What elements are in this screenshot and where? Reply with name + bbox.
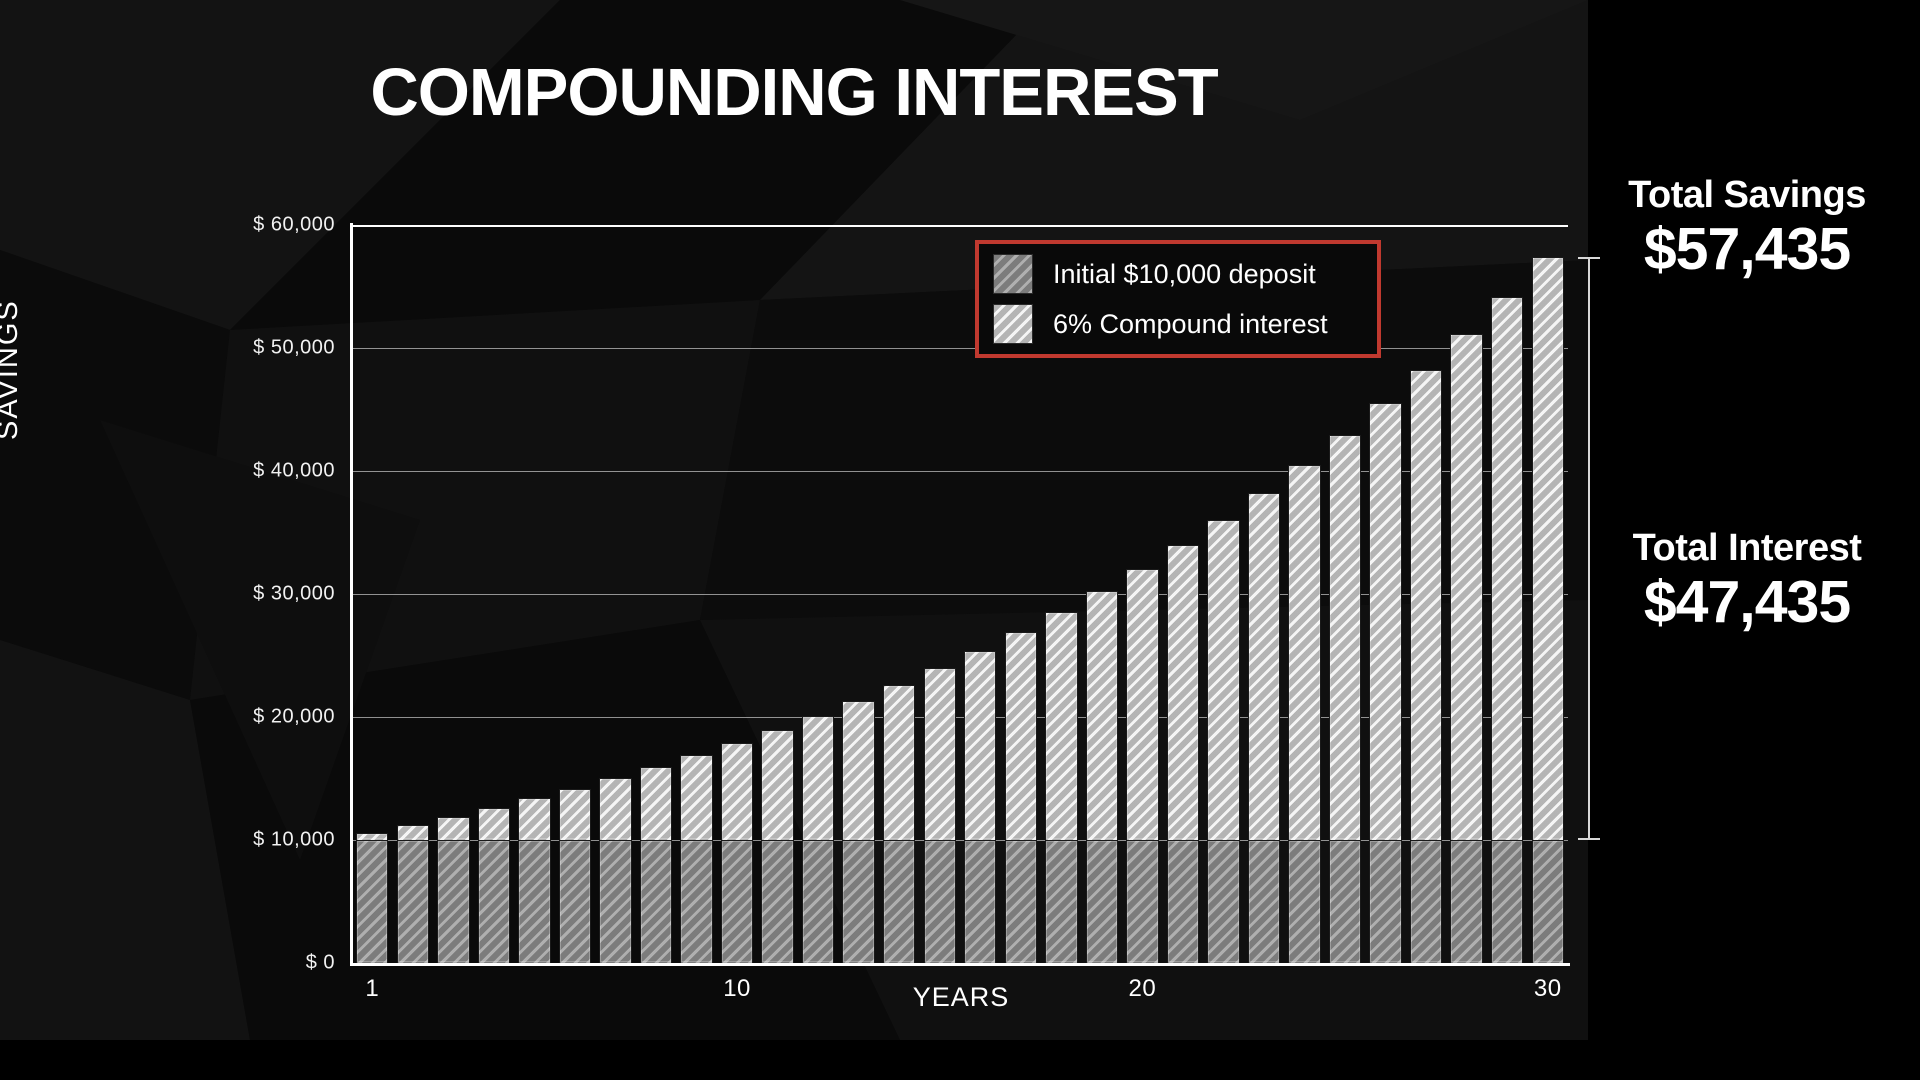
bar-segment-deposit [1167, 840, 1199, 963]
bar-group[interactable] [680, 755, 712, 963]
bar-group[interactable] [356, 833, 388, 963]
bracket-cap-bottom [1578, 838, 1600, 840]
bar-segment-deposit [761, 840, 793, 963]
bar-segment-interest [680, 755, 712, 840]
bar-group[interactable] [1369, 403, 1401, 963]
interest-swatch-icon [993, 304, 1033, 344]
bar-group[interactable] [1450, 334, 1482, 963]
bar-segment-deposit [1369, 840, 1401, 963]
bar-segment-deposit [924, 840, 956, 963]
bar-segment-interest [1086, 591, 1118, 840]
bar-segment-interest [1126, 569, 1158, 840]
bar-group[interactable] [1410, 370, 1442, 963]
bar-segment-interest [1167, 545, 1199, 840]
stat-total-savings-value: $57,435 [1592, 217, 1902, 282]
bar-segment-deposit [397, 840, 429, 963]
bar-group[interactable] [1045, 612, 1077, 963]
bar-segment-deposit [356, 840, 388, 963]
legend-label-interest: 6% Compound interest [1053, 309, 1328, 340]
bar-segment-deposit [1532, 840, 1564, 963]
bar-group[interactable] [1167, 545, 1199, 963]
chart-plot-area [352, 225, 1568, 963]
bar-group[interactable] [883, 685, 915, 963]
bar-segment-interest [397, 825, 429, 840]
bar-segment-deposit [1248, 840, 1280, 963]
bar-group[interactable] [761, 730, 793, 963]
bar-segment-interest [1207, 520, 1239, 840]
bar-segment-interest [518, 798, 550, 840]
bar-segment-interest [1369, 403, 1401, 840]
y-axis-tick-labels: $ 0$ 10,000$ 20,000$ 30,000$ 40,000$ 50,… [155, 225, 335, 963]
bar-segment-interest [802, 716, 834, 840]
bar-segment-interest [1005, 632, 1037, 840]
bar-segment-deposit [1288, 840, 1320, 963]
y-axis-tick-label: $ 50,000 [165, 337, 335, 360]
bar-group[interactable] [478, 808, 510, 963]
bar-segment-deposit [842, 840, 874, 963]
bar-group[interactable] [1532, 257, 1564, 963]
bar-segment-interest [640, 767, 672, 840]
bar-segment-deposit [883, 840, 915, 963]
bar-segment-interest [883, 685, 915, 840]
bar-segment-deposit [599, 840, 631, 963]
bar-group[interactable] [1005, 632, 1037, 963]
deposit-swatch-icon [993, 254, 1033, 294]
bar-group[interactable] [640, 767, 672, 963]
y-axis-tick-label: $ 30,000 [165, 583, 335, 606]
bar-segment-interest [842, 701, 874, 840]
bar-group[interactable] [1207, 520, 1239, 963]
bar-group[interactable] [437, 817, 469, 963]
bar-segment-interest [721, 743, 753, 840]
bar-group[interactable] [1288, 465, 1320, 963]
bar-segment-deposit [559, 840, 591, 963]
bar-segment-interest [1410, 370, 1442, 840]
bar-segment-deposit [1045, 840, 1077, 963]
stat-total-interest-label: Total Interest [1592, 528, 1902, 570]
bar-segment-deposit [1126, 840, 1158, 963]
bar-segment-deposit [1005, 840, 1037, 963]
background-bottom-strip [0, 1040, 1588, 1080]
page-title: COMPOUNDING INTEREST [0, 58, 1588, 128]
legend-label-deposit: Initial $10,000 deposit [1053, 259, 1316, 290]
bar-segment-deposit [1491, 840, 1523, 963]
stat-total-savings: Total Savings $57,435 [1592, 175, 1902, 282]
bar-group[interactable] [1329, 435, 1361, 963]
bar-group[interactable] [1086, 591, 1118, 963]
bar-group[interactable] [599, 778, 631, 963]
bar-segment-deposit [1207, 840, 1239, 963]
x-axis-title: YEARS [352, 982, 1570, 1013]
bar-segment-deposit [1329, 840, 1361, 963]
bar-segment-deposit [1450, 840, 1482, 963]
legend-item-interest[interactable]: 6% Compound interest [993, 304, 1363, 344]
bar-segment-deposit [964, 840, 996, 963]
bar-segment-interest [437, 817, 469, 840]
bar-segment-deposit [1086, 840, 1118, 963]
bar-group[interactable] [397, 825, 429, 963]
bar-segment-deposit [478, 840, 510, 963]
x-axis-line [352, 963, 1570, 966]
bar-segment-interest [964, 651, 996, 840]
bar-segment-interest [478, 808, 510, 840]
bar-group[interactable] [1248, 493, 1280, 963]
y-axis-tick-label: $ 40,000 [165, 460, 335, 483]
bar-segment-deposit [518, 840, 550, 963]
bar-segment-interest [1045, 612, 1077, 840]
bar-group[interactable] [518, 798, 550, 963]
bar-segment-interest [559, 789, 591, 840]
bar-segment-deposit [802, 840, 834, 963]
bar-group[interactable] [1491, 297, 1523, 963]
y-axis-tick-label: $ 0 [165, 952, 335, 975]
bar-group[interactable] [964, 651, 996, 963]
bar-segment-interest [1450, 334, 1482, 840]
y-axis-tick-label: $ 60,000 [165, 214, 335, 237]
bar-segment-deposit [721, 840, 753, 963]
y-axis-title: SAVINGS [0, 140, 25, 440]
bar-segment-interest [924, 668, 956, 840]
bar-segment-deposit [680, 840, 712, 963]
bar-group[interactable] [924, 668, 956, 963]
bar-group[interactable] [802, 716, 834, 963]
bar-series-container [352, 225, 1568, 963]
bar-segment-deposit [1410, 840, 1442, 963]
chart-legend: Initial $10,000 deposit 6% Compound inte… [975, 240, 1381, 358]
bar-group[interactable] [721, 743, 753, 963]
stat-total-interest: Total Interest $47,435 [1592, 528, 1902, 635]
legend-item-deposit[interactable]: Initial $10,000 deposit [993, 254, 1363, 294]
stat-total-interest-value: $47,435 [1592, 570, 1902, 635]
bar-segment-deposit [437, 840, 469, 963]
bar-segment-interest [1329, 435, 1361, 840]
bar-group[interactable] [559, 789, 591, 963]
bar-segment-interest [1532, 257, 1564, 840]
bar-segment-interest [761, 730, 793, 840]
bar-group[interactable] [1126, 569, 1158, 963]
bar-segment-interest [1288, 465, 1320, 840]
bar-segment-interest [1248, 493, 1280, 840]
y-axis-tick-label: $ 10,000 [165, 829, 335, 852]
bar-segment-interest [356, 833, 388, 840]
bar-segment-interest [599, 778, 631, 840]
stat-total-savings-label: Total Savings [1592, 175, 1902, 217]
bar-segment-deposit [640, 840, 672, 963]
y-axis-tick-label: $ 20,000 [165, 706, 335, 729]
bracket-stem [1588, 257, 1590, 840]
bar-group[interactable] [842, 701, 874, 963]
bar-segment-interest [1491, 297, 1523, 840]
